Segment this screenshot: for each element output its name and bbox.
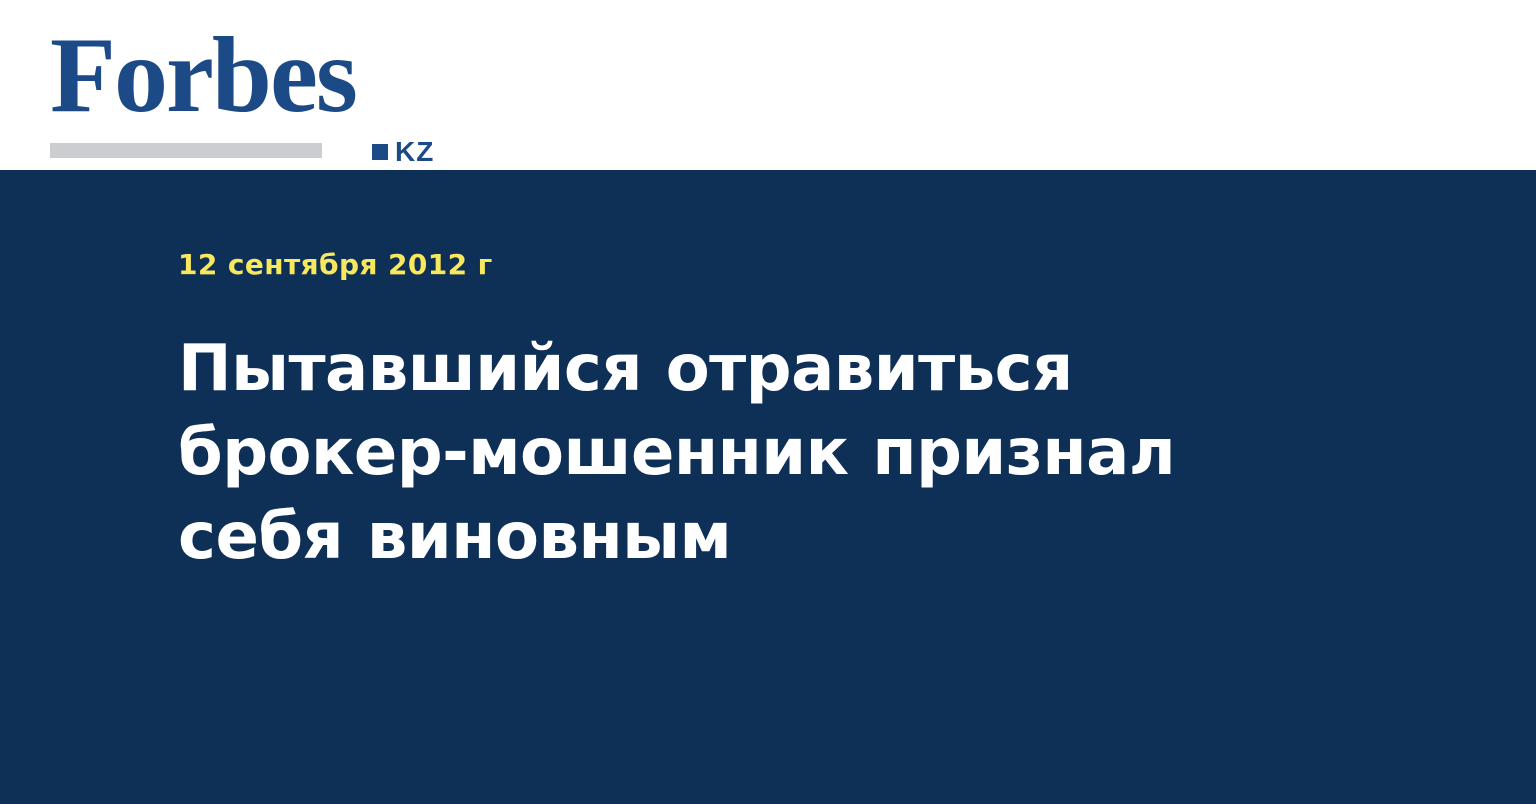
logo-underline-bar [50, 143, 322, 158]
forbes-kz-logo[interactable]: Forbes KZ [50, 22, 410, 152]
article-hero-content: 12 сентября 2012 г Пытавшийся отравиться… [178, 170, 1358, 579]
article-headline: Пытавшийся отравиться брокер-мошенник пр… [178, 282, 1338, 579]
logo-kz-label: KZ [395, 138, 434, 166]
article-hero-page: Forbes KZ 12 сентября 2012 г Пытавшийся … [0, 0, 1536, 804]
forbes-wordmark: Forbes [50, 22, 356, 130]
article-hero: 12 сентября 2012 г Пытавшийся отравиться… [0, 170, 1536, 804]
site-masthead: Forbes KZ [0, 0, 1536, 170]
logo-square-icon [372, 144, 388, 160]
article-date: 12 сентября 2012 г [178, 170, 1358, 282]
